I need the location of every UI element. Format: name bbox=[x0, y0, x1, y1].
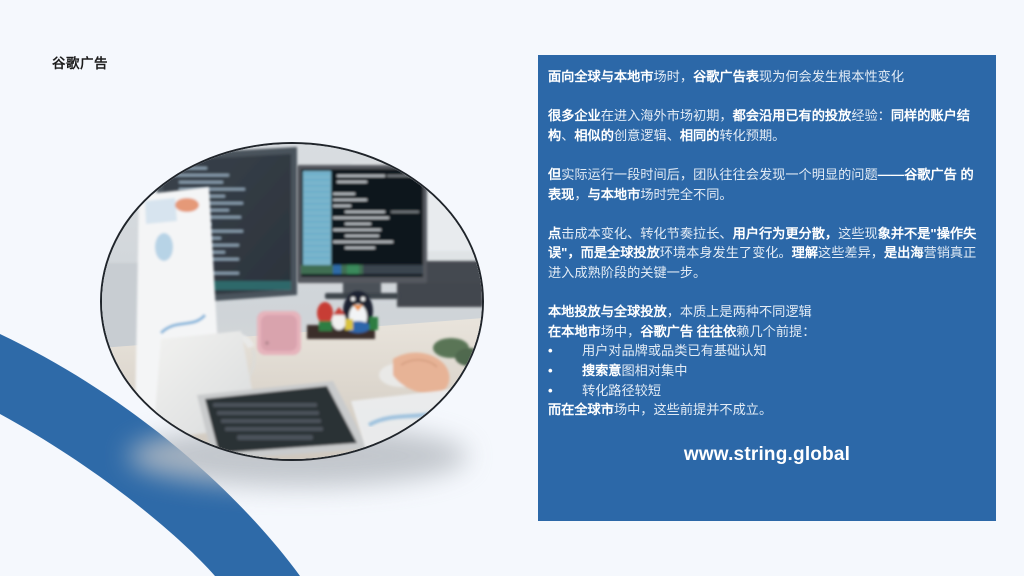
paragraph-spacer bbox=[548, 204, 986, 224]
bullet-marker-icon: • bbox=[548, 383, 582, 398]
paragraph-p3-run-5: 而是 bbox=[581, 245, 607, 260]
bullet-marker-icon: • bbox=[548, 343, 582, 358]
paragraph-p4b-run-3: 赖几个前提： bbox=[736, 324, 815, 339]
paragraph-p2-run-4: ， bbox=[574, 187, 587, 202]
paragraph-p2-run-6: 场时完全不同。 bbox=[640, 187, 732, 202]
panel-paragraphs: 面向全球与本地市场时，谷歌广告表现为何会发生根本性变化很多企业在进入海外市场初期… bbox=[548, 67, 986, 420]
paragraph-p3-run-10: 是出海 bbox=[884, 245, 924, 260]
desk-workstation-photo bbox=[101, 143, 483, 460]
paragraph-p2: 但实际运行一段时间后，团队往往会发现一个明显的问题——谷歌广告 的表现，与本地市… bbox=[548, 165, 986, 204]
bullet-2-run-1: 图相对集中 bbox=[622, 363, 688, 378]
content-text-panel: 面向全球与本地市场时，谷歌广告表现为何会发生根本性变化很多企业在进入海外市场初期… bbox=[538, 55, 996, 521]
paragraph-p3-run-8: 理解 bbox=[792, 245, 818, 260]
slide-title: 谷歌广告 bbox=[52, 56, 108, 72]
paragraph-p1-run-3: 经验： bbox=[851, 108, 891, 123]
paragraph-heading-run-2: 谷歌广告表 bbox=[693, 69, 759, 84]
paragraph-p2-run-1: 实际运行一段时间后， bbox=[561, 167, 693, 182]
closing-run-1: 场中，这些前提并不成立。 bbox=[614, 402, 772, 417]
paragraph-p2-run-2: 团队往往会发现一个明显的问题 bbox=[693, 167, 878, 182]
paragraph-p2-run-0: 但 bbox=[548, 167, 561, 182]
paragraph-p4a-run-0: 本地投放与全球投放 bbox=[548, 304, 667, 319]
paragraph-p1-run-7: 创意逻辑 bbox=[614, 128, 667, 143]
bullet-3-run-0: 转化路径较短 bbox=[582, 383, 661, 398]
bullet-2-run-0: 搜索意 bbox=[582, 363, 622, 378]
bullet-1-run-0: 用户对品牌或品类已有基础认知 bbox=[582, 343, 767, 358]
paragraph-p3-run-6: 全球投放 bbox=[607, 245, 660, 260]
slide-canvas: 谷歌广告 bbox=[0, 0, 1024, 576]
paragraph-p1-run-5: 、 bbox=[561, 128, 574, 143]
paragraph-heading: 面向全球与本地市场时，谷歌广告表现为何会发生根本性变化 bbox=[548, 67, 986, 87]
paragraph-p1-run-8: 、 bbox=[667, 128, 680, 143]
paragraph-p4b-run-2: 谷歌广告 往往依 bbox=[640, 324, 736, 339]
bullet-item-1: • 用户对品牌或品类已有基础认知 bbox=[548, 341, 986, 361]
paragraph-p1-run-6: 相似的 bbox=[574, 128, 614, 143]
paragraph-p3: 点击成本变化、转化节奏拉长、用户行为更分散，这些现象并不是"操作失误"，而是全球… bbox=[548, 224, 986, 283]
paragraph-heading-run-0: 面向全球与本地市 bbox=[548, 69, 654, 84]
paragraph-p3-run-0: 点 bbox=[548, 226, 561, 241]
paragraph-spacer bbox=[548, 145, 986, 165]
paragraph-heading-run-1: 场时， bbox=[654, 69, 694, 84]
paragraph-p3-run-9: 这些差异， bbox=[818, 245, 884, 260]
paragraph-p3-run-3: 这些现 bbox=[838, 226, 878, 241]
paragraph-p4b-run-1: 场中， bbox=[601, 324, 641, 339]
paragraph-p3-run-1: 击成本变化、转化节奏拉长、 bbox=[561, 226, 732, 241]
bullet-marker-icon: • bbox=[548, 363, 582, 378]
paragraph-p2-run-5: 与本地市 bbox=[588, 187, 641, 202]
closing-run-0: 而在全球市 bbox=[548, 402, 614, 417]
paragraph-p1-run-0: 很多企业 bbox=[548, 108, 601, 123]
paragraph-p4b: 在本地市场中，谷歌广告 往往依赖几个前提： bbox=[548, 322, 986, 342]
paragraph-p1: 很多企业在进入海外市场初期，都会沿用已有的投放经验：同样的账户结构、相似的创意逻… bbox=[548, 106, 986, 145]
paragraph-p1-run-10: 转化预期。 bbox=[719, 128, 785, 143]
paragraph-p1-run-1: 在进入海外市场初期， bbox=[601, 108, 733, 123]
paragraph-p1-run-2: 都会沿用已有的投放 bbox=[733, 108, 852, 123]
oval-photo-frame bbox=[100, 142, 484, 461]
paragraph-closing: 而在全球市场中，这些前提并不成立。 bbox=[548, 400, 986, 420]
bullet-item-2: • 搜索意图相对集中 bbox=[548, 361, 986, 381]
paragraph-heading-run-3: 现为何会发生根本性变化 bbox=[759, 69, 904, 84]
paragraph-p3-run-7: 环境本身发生了变化。 bbox=[660, 245, 792, 260]
website-url[interactable]: www.string.global bbox=[548, 444, 986, 466]
paragraph-p1-run-9: 相同的 bbox=[680, 128, 720, 143]
paragraph-spacer bbox=[548, 87, 986, 107]
paragraph-p3-run-2: 用户行为更分散， bbox=[733, 226, 839, 241]
paragraph-p4a-run-1: ，本质上是两种不同逻辑 bbox=[667, 304, 812, 319]
paragraph-p4b-run-0: 在本地市 bbox=[548, 324, 601, 339]
paragraph-p4a: 本地投放与全球投放，本质上是两种不同逻辑 bbox=[548, 302, 986, 322]
paragraph-spacer bbox=[548, 283, 986, 303]
bullet-item-3: • 转化路径较短 bbox=[548, 381, 986, 401]
